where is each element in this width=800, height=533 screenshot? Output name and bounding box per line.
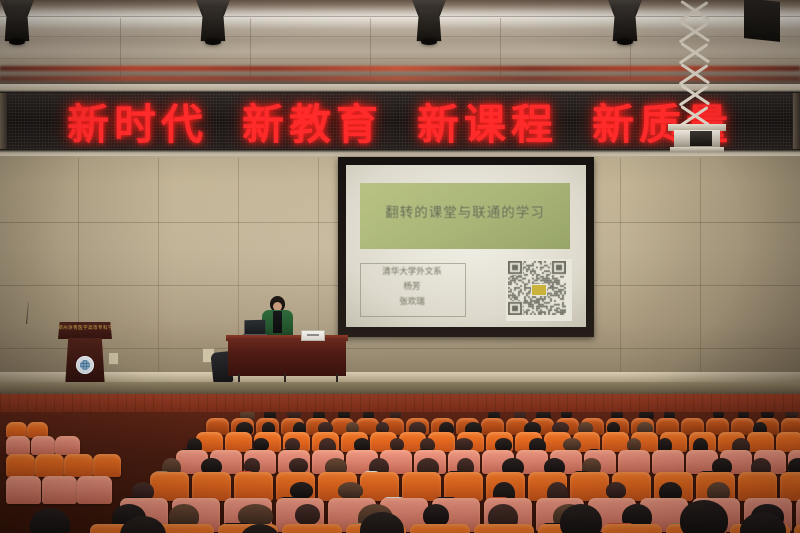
auditorium-seat <box>6 436 30 455</box>
name-placard <box>301 330 325 341</box>
university-seal-icon <box>76 356 94 374</box>
stage-spotlight <box>608 0 642 42</box>
stage-spotlight <box>412 0 446 42</box>
ceiling-seam <box>370 18 371 84</box>
auditorium-seat <box>55 436 79 455</box>
audience-member <box>338 482 364 499</box>
lectern: 郑州澍青医学高等专科学校 <box>58 322 112 388</box>
slide-affiliation: 清华大学外文系 <box>360 265 464 280</box>
led-phrase-3: 新课程 <box>417 93 558 149</box>
led-phrase-2: 新教育 <box>242 93 383 149</box>
auditorium-seat <box>794 524 800 533</box>
audience-member <box>289 458 308 473</box>
scissor-segment <box>682 42 712 64</box>
auditorium-seat <box>64 454 93 477</box>
projection-screen: 翻转的课堂与联通的学习 清华大学外文系 杨芳 张欢瑞 <box>346 165 586 327</box>
auditorium-seat <box>6 454 35 477</box>
audience-member <box>295 504 320 525</box>
auditorium-seat <box>31 436 55 455</box>
auditorium-seat <box>402 472 441 501</box>
auditorium-seat <box>410 524 470 533</box>
ceiling-seam <box>120 18 121 84</box>
projection-screen-frame: 翻转的课堂与联通的学习 清华大学外文系 杨芳 张欢瑞 <box>338 157 594 337</box>
auditorium-seat <box>570 472 609 501</box>
auditorium-seat <box>93 454 122 477</box>
auditorium-seat <box>474 524 534 533</box>
auditorium-seat <box>35 454 64 477</box>
auditorium-seat <box>234 472 273 501</box>
scissor-segment <box>682 21 712 43</box>
speaker-table <box>228 338 346 376</box>
auditorium-seat <box>150 472 189 501</box>
qr-code <box>506 259 572 321</box>
stage-spotlight <box>196 0 230 42</box>
speaker-inner-top <box>273 311 282 333</box>
scissor-lattice <box>682 0 712 126</box>
auditorium-seat <box>780 472 800 501</box>
audience-member-foreground <box>680 500 728 533</box>
projector-lens-housing <box>690 131 712 146</box>
auditorium-seat <box>6 476 41 504</box>
auditorium-seat <box>738 472 777 501</box>
auditorium-seat <box>602 524 662 533</box>
auditorium-seat <box>77 476 112 504</box>
lectern-top: 郑州澍青医学高等专科学校 <box>58 322 112 339</box>
slide-title: 翻转的课堂与联通的学习 <box>360 201 570 221</box>
ceiling-seam <box>500 18 501 84</box>
auditorium-seat <box>618 450 650 474</box>
scissor-segment <box>682 84 712 106</box>
auditorium-seat <box>42 476 77 504</box>
audience-member <box>606 482 626 499</box>
lectern-engraving: 郑州澍青医学高等专科学校 <box>58 325 112 331</box>
slide-credits: 清华大学外文系 杨芳 张欢瑞 <box>360 265 464 310</box>
led-phrase-1: 新时代 <box>67 93 208 149</box>
banner-edge <box>0 93 7 149</box>
audience-seating <box>0 412 800 533</box>
lecture-hall-photo: 新时代 新教育 新课程 新质量 翻转的课堂与联通的学习 清华大学外文系 杨芳 张… <box>0 0 800 533</box>
auditorium-seat <box>652 450 684 474</box>
slide-presenter-2: 张欢瑞 <box>360 295 464 310</box>
audience-member-foreground <box>560 504 602 533</box>
auditorium-seat <box>602 432 629 452</box>
ceiling-speaker-bracket <box>744 0 780 42</box>
scissor-segment <box>682 0 712 22</box>
auditorium-seat <box>776 432 800 452</box>
ceiling-seam <box>250 18 251 84</box>
lift-base-plate <box>670 147 724 152</box>
banner-edge <box>793 93 800 149</box>
qr-center-logo <box>531 284 547 296</box>
slide-presenter-1: 杨芳 <box>360 280 464 295</box>
auditorium-seat <box>747 432 774 452</box>
auditorium-seat <box>192 472 231 501</box>
scissor-segment <box>682 63 712 85</box>
audience-member-foreground <box>30 508 70 533</box>
auditorium-seat <box>282 524 342 533</box>
projector-scissor-lift <box>668 0 726 150</box>
stage-spotlight <box>0 0 34 42</box>
